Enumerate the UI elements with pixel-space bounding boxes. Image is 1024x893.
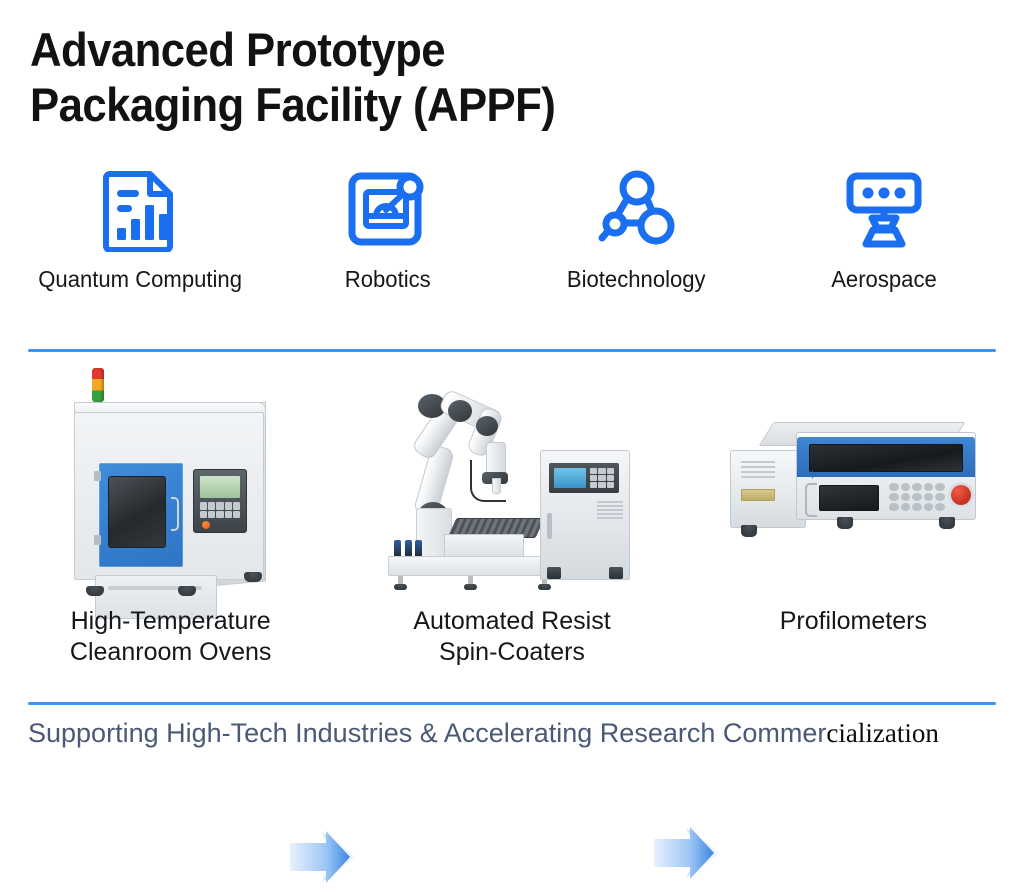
footer-tagline: Supporting High-Tech Industries & Accele… [28, 716, 939, 750]
cabinet-control-panel [549, 463, 619, 493]
sector-label: Quantum Computing [38, 266, 242, 293]
sector-item-biotechnology[interactable]: Biotechnology [512, 168, 760, 293]
sector-item-robotics[interactable]: Robotics [264, 168, 512, 293]
spin-coater-foot [464, 576, 477, 590]
oven-emergency-button [202, 521, 210, 529]
equipment-caption-profilometer: Profilometers [683, 606, 1024, 668]
robot-joint-wrist-2 [476, 416, 498, 436]
flow-arrow-1-icon [288, 826, 374, 893]
profilometer-foot [837, 517, 853, 529]
profilometer-lower-window [819, 485, 879, 511]
equipment-caption-oven: High-Temperature Cleanroom Ovens [0, 606, 341, 668]
cabinet-door-handle [547, 513, 552, 539]
sector-label: Robotics [345, 266, 431, 293]
sector-item-quantum-computing[interactable]: Quantum Computing [16, 168, 264, 293]
tagline-main-text: Supporting High-Tech Industries & Accele… [28, 718, 826, 748]
sector-label: Aerospace [831, 266, 937, 293]
flow-arrow-2-icon [652, 822, 738, 889]
oven-keypad [200, 502, 240, 518]
oven-door-handle [171, 497, 179, 531]
oven-foot [244, 572, 262, 582]
cabinet-display-screen [554, 468, 586, 488]
profilometer-slot [741, 489, 775, 501]
molecule-network-icon [594, 168, 678, 252]
robot-cable [470, 460, 506, 502]
spin-coater-foot [394, 576, 407, 590]
cabinet-foot [609, 567, 623, 579]
profilometer-image: PROFILOMETER [730, 420, 980, 552]
equipment-row: PROFILOMETER [0, 360, 1024, 600]
title-line-1: Advanced Prototype [30, 22, 718, 77]
profilometer-chamber-window [809, 444, 963, 472]
caption-line-1: Profilometers [683, 606, 1024, 637]
page-title: Advanced Prototype Packaging Facility (A… [30, 22, 770, 132]
profilometer-handle [805, 483, 817, 517]
caption-line-2: Cleanroom Ovens [0, 637, 341, 668]
caption-line-1: High-Temperature [0, 606, 341, 637]
divider-bottom [28, 702, 996, 705]
resist-vials [394, 536, 420, 558]
oven-foot [178, 586, 196, 596]
stack-light-icon [92, 368, 104, 402]
equipment-caption-row: High-Temperature Cleanroom Ovens Automat… [0, 606, 1024, 668]
sector-label: Biotechnology [567, 266, 706, 293]
oven-control-panel [193, 469, 247, 533]
equipment-caption-spin-coater: Automated Resist Spin-Coaters [341, 606, 682, 668]
divider-top [28, 349, 996, 352]
document-bar-chart-icon [100, 168, 180, 252]
brand-name: PROFILOMETER [820, 472, 854, 477]
profilometer-brand-logo: PROFILOMETER [808, 470, 854, 479]
oven-door [99, 463, 183, 567]
profilometer-vents [741, 461, 775, 479]
cabinet-vents [597, 501, 623, 519]
tagline-overflow-text: cialization [826, 718, 938, 748]
oven-view-window [108, 476, 166, 548]
oven-hinge-top [94, 471, 101, 481]
caption-line-2: Spin-Coaters [341, 637, 682, 668]
profilometer-emergency-stop-button [951, 485, 971, 505]
image-frame-icon [346, 168, 430, 252]
high-temperature-cleanroom-oven-image [58, 368, 298, 596]
caption-line-1: Automated Resist [341, 606, 682, 637]
satellite-panel-icon [842, 168, 926, 252]
spin-coater-control-cabinet [540, 450, 630, 580]
oven-display-screen [200, 476, 240, 498]
profilometer-keypad [889, 483, 945, 511]
title-line-2: Packaging Facility (APPF) [30, 77, 718, 132]
industry-sector-row: Quantum Computing Robotics [16, 168, 1008, 293]
cabinet-foot [547, 567, 561, 579]
sector-item-aerospace[interactable]: Aerospace [760, 168, 1008, 293]
profilometer-left-module [730, 450, 806, 528]
brand-mark-icon [808, 470, 817, 479]
automated-resist-spin-coater-image [382, 374, 632, 594]
cabinet-keypad [590, 468, 614, 488]
profilometer-foot [939, 517, 955, 529]
profilometer-foot [741, 525, 757, 537]
oven-hinge-bottom [94, 535, 101, 545]
oven-body [74, 412, 264, 580]
oven-foot [86, 586, 104, 596]
robot-joint-wrist-1 [448, 400, 472, 422]
